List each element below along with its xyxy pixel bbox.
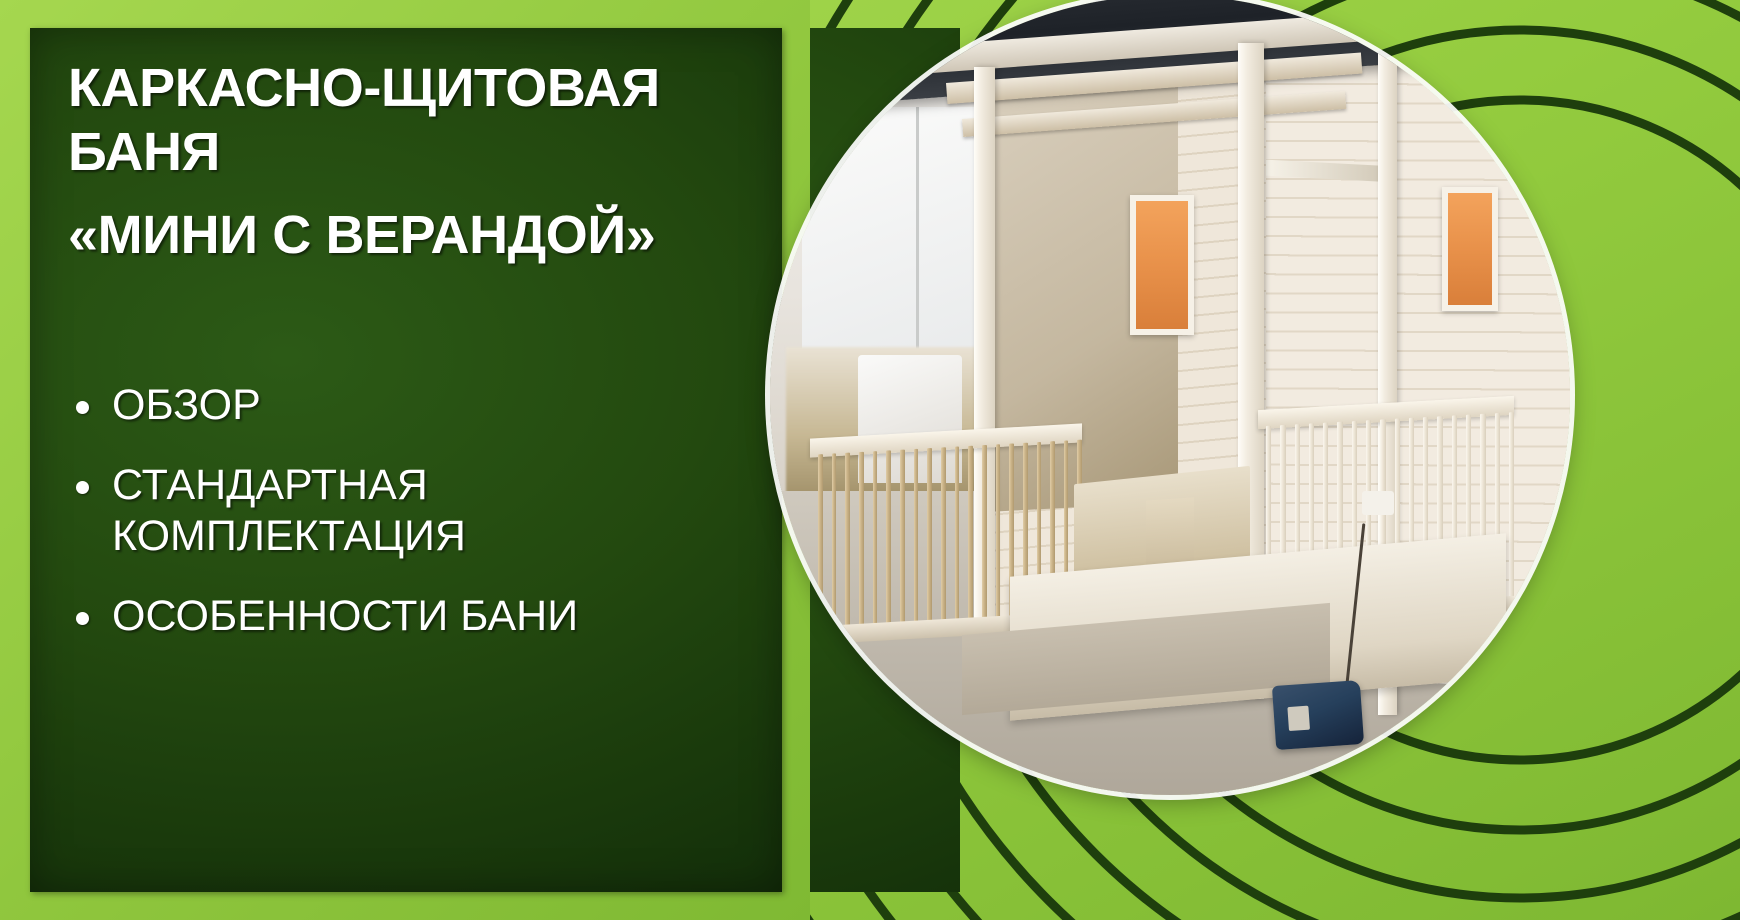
railing-slat xyxy=(900,450,905,626)
railing-slat xyxy=(982,445,987,621)
railing-slat xyxy=(941,447,946,623)
cabin-window-right xyxy=(1442,187,1498,311)
railing-slat xyxy=(996,444,1001,620)
bullet-dot-icon xyxy=(76,481,89,494)
railing-slat xyxy=(859,452,864,628)
railing-slat xyxy=(968,446,973,622)
title-line-1: КАРКАСНО-ЩИТОВАЯ xyxy=(68,58,768,118)
bullet-dot-icon xyxy=(76,612,89,625)
list-item-label: ОСОБЕННОСТИ БАНИ xyxy=(112,592,578,640)
topics-list: ОБЗОР СТАНДАРТНАЯ КОМПЛЕКТАЦИЯ ОСОБЕННОС… xyxy=(68,380,778,641)
sauna-photo-scene xyxy=(770,0,1570,795)
title-line-2: БАНЯ xyxy=(68,122,768,182)
text-content: КАРКАСНО-ЩИТОВАЯ БАНЯ «МИНИ С ВЕРАНДОЙ» … xyxy=(30,28,782,892)
railing-slat xyxy=(1509,412,1514,620)
window-pane xyxy=(1136,201,1188,329)
railing-slat xyxy=(818,454,823,630)
railing-slat xyxy=(886,450,891,626)
window-pane xyxy=(1448,193,1492,305)
list-item-label: СТАНДАРТНАЯ КОМПЛЕКТАЦИЯ xyxy=(112,461,466,559)
promo-slide: КАРКАСНО-ЩИТОВАЯ БАНЯ «МИНИ С ВЕРАНДОЙ» … xyxy=(0,0,1740,920)
list-item: СТАНДАРТНАЯ КОМПЛЕКТАЦИЯ xyxy=(68,460,778,561)
bullet-dot-icon xyxy=(76,401,89,414)
railing-slat xyxy=(914,449,919,625)
railing-slat xyxy=(873,451,878,627)
list-item: ОСОБЕННОСТИ БАНИ xyxy=(68,591,778,641)
railing-slat xyxy=(845,453,850,629)
blue-power-tool xyxy=(1272,680,1364,750)
page-title: КАРКАСНО-ЩИТОВАЯ БАНЯ «МИНИ С ВЕРАНДОЙ» xyxy=(68,58,768,265)
title-line-3: «МИНИ С ВЕРАНДОЙ» xyxy=(68,205,768,265)
sauna-photo-circle xyxy=(770,0,1570,795)
railing-slat xyxy=(832,453,837,629)
cabin-window-center xyxy=(1130,195,1194,335)
wall-socket xyxy=(1362,491,1394,515)
list-item-label: ОБЗОР xyxy=(112,381,261,429)
railing-slat xyxy=(927,448,932,624)
list-item: ОБЗОР xyxy=(68,380,778,430)
railing-slat xyxy=(955,446,960,622)
